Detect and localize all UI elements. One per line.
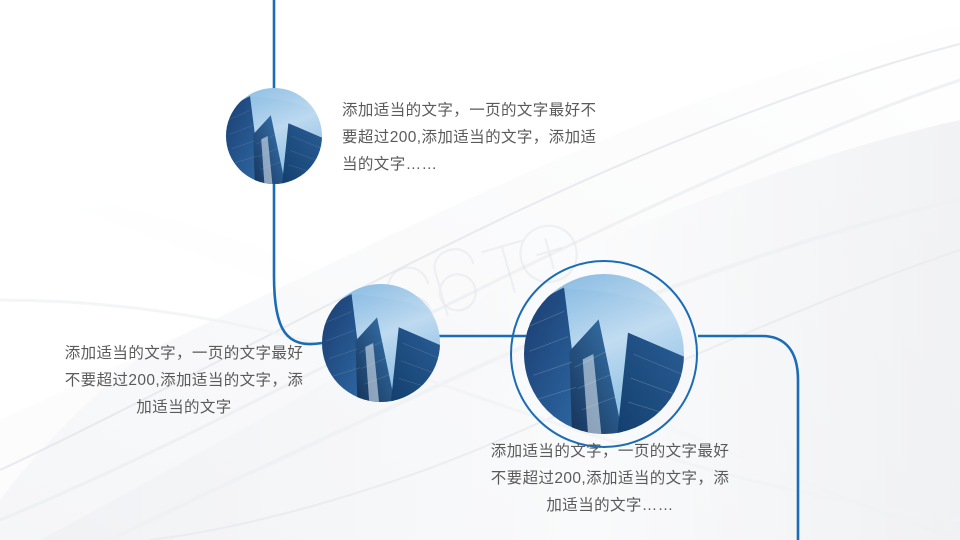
photo-circle-2[interactable] (322, 284, 440, 402)
skyscraper-photo-1 (226, 88, 322, 184)
photo-circle-1[interactable] (226, 88, 322, 184)
slide-canvas: 添加适当的文字，一页的文字最好不要超过200,添加适当的文字，添加适当的文字……… (0, 0, 960, 540)
node-3-text: 添加适当的文字，一页的文字最好不要超过200,添加适当的文字，添加适当的文字…… (486, 438, 734, 519)
connector-curve-1-2 (274, 276, 322, 344)
photo-circle-3[interactable] (524, 274, 684, 434)
skyscraper-photo-2 (322, 284, 440, 402)
node-1-text: 添加适当的文字，一页的文字最好不要超过200,添加适当的文字，添加适当的文字…… (342, 97, 610, 178)
node-2-text: 添加适当的文字，一页的文字最好不要超过200,添加适当的文字，添加适当的文字 (58, 340, 310, 421)
connector-lines (0, 0, 960, 540)
skyscraper-photo-3 (524, 274, 684, 434)
